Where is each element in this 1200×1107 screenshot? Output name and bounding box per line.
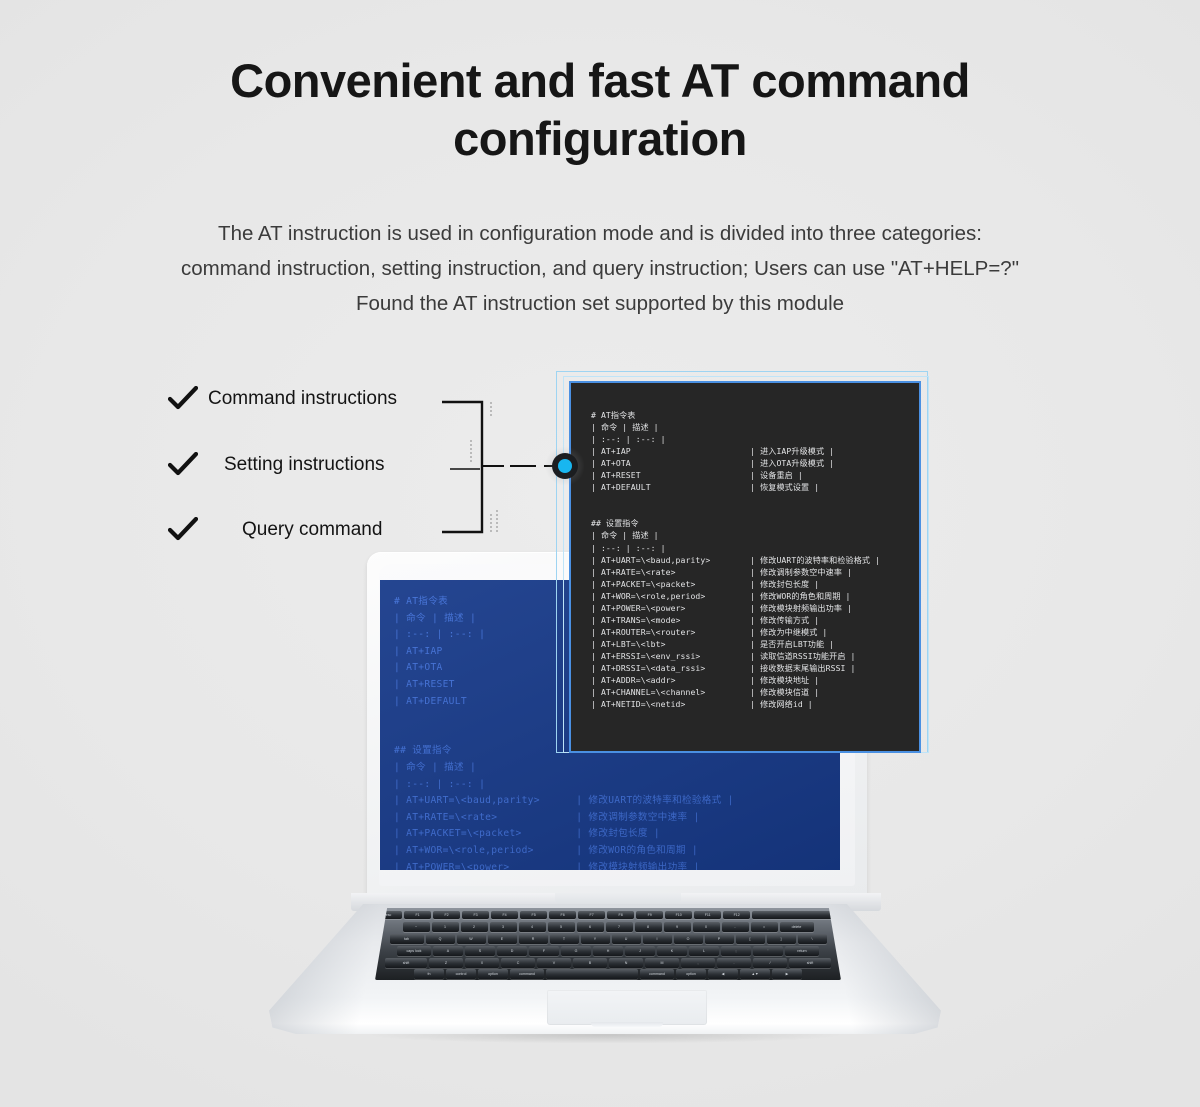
keyboard-key[interactable]: command bbox=[510, 969, 544, 979]
keyboard-key[interactable]: 4 bbox=[519, 922, 546, 932]
keyboard-key[interactable]: F9 bbox=[636, 911, 663, 919]
callout-command-instructions: Command instructions bbox=[168, 386, 397, 412]
laptop-hinge-notch bbox=[555, 893, 681, 905]
keyboard-key[interactable]: I bbox=[643, 934, 672, 944]
keyboard-key[interactable]: delete bbox=[780, 922, 814, 932]
keyboard-key[interactable]: F2 bbox=[433, 911, 460, 919]
keyboard-key[interactable]: shift bbox=[385, 958, 427, 968]
keyboard-key[interactable]: F bbox=[529, 946, 559, 956]
keyboard-key[interactable]: F7 bbox=[578, 911, 605, 919]
keyboard-key[interactable]: F10 bbox=[665, 911, 692, 919]
at-command-terminal-popup: # AT指令表 | 命令 | 描述 | | :--: | :--: | | AT… bbox=[569, 381, 921, 753]
keyboard-key[interactable]: - bbox=[722, 922, 749, 932]
terminal-code: # AT指令表 | 命令 | 描述 | | :--: | :--: | | AT… bbox=[591, 409, 880, 710]
connector-dot[interactable] bbox=[558, 459, 572, 473]
keyboard-key[interactable]: S bbox=[465, 946, 495, 956]
keyboard-key[interactable]: F8 bbox=[607, 911, 634, 919]
keyboard-key[interactable]: ▲▼ bbox=[740, 969, 770, 979]
keyboard-key[interactable]: K bbox=[657, 946, 687, 956]
check-icon bbox=[168, 517, 198, 543]
keyboard-key[interactable]: O bbox=[674, 934, 703, 944]
keyboard-key[interactable]: [ bbox=[736, 934, 765, 944]
keyboard-key[interactable]: F3 bbox=[462, 911, 489, 919]
keyboard-key[interactable]: option bbox=[676, 969, 706, 979]
keyboard-key[interactable]: 0 bbox=[693, 922, 720, 932]
keyboard-key[interactable]: control bbox=[446, 969, 476, 979]
keyboard-key[interactable]: J bbox=[625, 946, 655, 956]
keyboard-key[interactable]: 8 bbox=[635, 922, 662, 932]
keyboard-key[interactable]: . bbox=[717, 958, 751, 968]
keyboard-key[interactable]: 6 bbox=[577, 922, 604, 932]
keyboard-key[interactable]: \ bbox=[798, 934, 827, 944]
keyboard-key[interactable] bbox=[752, 911, 841, 919]
keyboard-key[interactable]: Q bbox=[426, 934, 455, 944]
keyboard-key[interactable]: E bbox=[488, 934, 517, 944]
keyboard-key[interactable]: ◀ bbox=[708, 969, 738, 979]
keyboard-key[interactable]: 7 bbox=[606, 922, 633, 932]
keyboard-key[interactable]: ' bbox=[753, 946, 783, 956]
keyboard-key[interactable]: ] bbox=[767, 934, 796, 944]
check-icon bbox=[168, 452, 198, 478]
keyboard-key[interactable] bbox=[546, 969, 638, 979]
keyboard-key[interactable]: F5 bbox=[520, 911, 547, 919]
keyboard-key[interactable]: F1 bbox=[404, 911, 431, 919]
keyboard-key[interactable]: B bbox=[573, 958, 607, 968]
laptop-trackpad-notch bbox=[591, 1022, 663, 1027]
keyboard-key[interactable]: D bbox=[497, 946, 527, 956]
keyboard-key[interactable]: G bbox=[561, 946, 591, 956]
keyboard-key[interactable]: P bbox=[705, 934, 734, 944]
callout-label: Setting instructions bbox=[224, 454, 385, 476]
keyboard-key[interactable]: Y bbox=[581, 934, 610, 944]
page-root: Convenient and fast AT command configura… bbox=[0, 0, 1200, 1107]
keyboard-key[interactable]: T bbox=[550, 934, 579, 944]
keyboard-key[interactable]: ; bbox=[721, 946, 751, 956]
keyboard-key[interactable]: fn bbox=[414, 969, 444, 979]
keyboard-key[interactable]: R bbox=[519, 934, 548, 944]
keyboard-key[interactable]: M bbox=[645, 958, 679, 968]
keyboard-key[interactable]: F12 bbox=[723, 911, 750, 919]
keyboard-key[interactable]: Z bbox=[429, 958, 463, 968]
check-icon bbox=[168, 386, 198, 412]
keyboard-key[interactable]: A bbox=[433, 946, 463, 956]
keyboard-key[interactable]: U bbox=[612, 934, 641, 944]
keyboard-key[interactable]: 3 bbox=[490, 922, 517, 932]
callout-query-command: Query command bbox=[168, 517, 382, 543]
laptop-trackpad[interactable] bbox=[547, 990, 707, 1025]
keyboard-key[interactable]: W bbox=[457, 934, 486, 944]
keyboard-key[interactable]: , bbox=[681, 958, 715, 968]
callout-label: Query command bbox=[242, 519, 382, 541]
laptop-keyboard: escF1F2F3F4F5F6F7F8F9F10F11F12 ~12345678… bbox=[375, 908, 841, 980]
keyboard-key[interactable]: / bbox=[753, 958, 787, 968]
keyboard-key[interactable]: F11 bbox=[694, 911, 721, 919]
keyboard-key[interactable]: 1 bbox=[432, 922, 459, 932]
keyboard-key[interactable]: L bbox=[689, 946, 719, 956]
callout-setting-instructions: Setting instructions bbox=[168, 452, 385, 478]
keyboard-key[interactable]: F6 bbox=[549, 911, 576, 919]
keyboard-key[interactable]: option bbox=[478, 969, 508, 979]
keyboard-key[interactable]: C bbox=[501, 958, 535, 968]
keyboard-key[interactable]: caps lock bbox=[397, 946, 431, 956]
keyboard-key[interactable]: = bbox=[751, 922, 778, 932]
callout-label: Command instructions bbox=[208, 388, 397, 410]
keyboard-key[interactable]: return bbox=[785, 946, 819, 956]
keyboard-key[interactable]: V bbox=[537, 958, 571, 968]
keyboard-key[interactable]: tab bbox=[390, 934, 424, 944]
keyboard-key[interactable]: ~ bbox=[403, 922, 430, 932]
keyboard-key[interactable]: command bbox=[640, 969, 674, 979]
keyboard-key[interactable]: ▶ bbox=[772, 969, 802, 979]
keyboard-key[interactable]: shift bbox=[789, 958, 831, 968]
keyboard-key[interactable]: X bbox=[465, 958, 499, 968]
keyboard-key[interactable]: 9 bbox=[664, 922, 691, 932]
keyboard-key[interactable]: N bbox=[609, 958, 643, 968]
keyboard-key[interactable]: 5 bbox=[548, 922, 575, 932]
keyboard-key[interactable]: H bbox=[593, 946, 623, 956]
keyboard-key[interactable]: F4 bbox=[491, 911, 518, 919]
keyboard-key[interactable]: 2 bbox=[461, 922, 488, 932]
